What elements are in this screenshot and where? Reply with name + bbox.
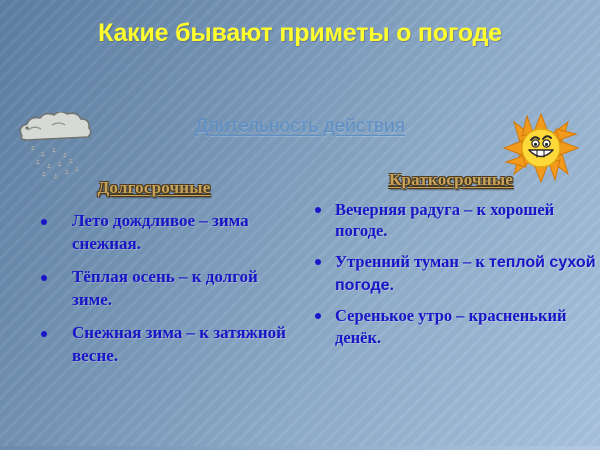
list-item: Тёплая осень – к долгой зиме. <box>8 266 300 311</box>
list-item: Утренний туман – к теплой сухой погоде. <box>305 251 597 297</box>
slide-subtitle: Длительность действия <box>120 117 480 138</box>
list-item: Лето дождливое – зима снежная. <box>8 210 300 255</box>
list-item: Снежная зима – к затяжной весне. <box>8 322 300 367</box>
list-item: Серенькое утро – красненький денёк. <box>305 305 597 348</box>
column-short-term: Краткосрочные Вечерняя радуга – к хороше… <box>305 170 597 357</box>
list-item: Вечерняя радуга – к хорошей погоде. <box>305 199 597 242</box>
column-heading-short-term: Краткосрочные <box>305 170 597 190</box>
bullet-list-short-term: Вечерняя радуга – к хорошей погоде. Утре… <box>305 199 597 348</box>
slide-canvas: Какие бывают приметы о погоде Длительнос… <box>0 0 600 450</box>
bullet-list-long-term: Лето дождливое – зима снежная. Тёплая ос… <box>8 210 300 368</box>
column-heading-long-term: Долгосрочные <box>8 178 300 198</box>
column-long-term: Долгосрочные Лето дождливое – зима снежн… <box>8 170 300 379</box>
list-item-text: Вечерняя радуга – к хорошей погоде. <box>335 200 554 240</box>
slide-title: Какие бывают приметы о погоде <box>60 18 540 49</box>
list-item-text: Утренний туман – к <box>335 252 489 271</box>
list-item-text: Серенькое утро – красненький денёк. <box>335 306 566 346</box>
